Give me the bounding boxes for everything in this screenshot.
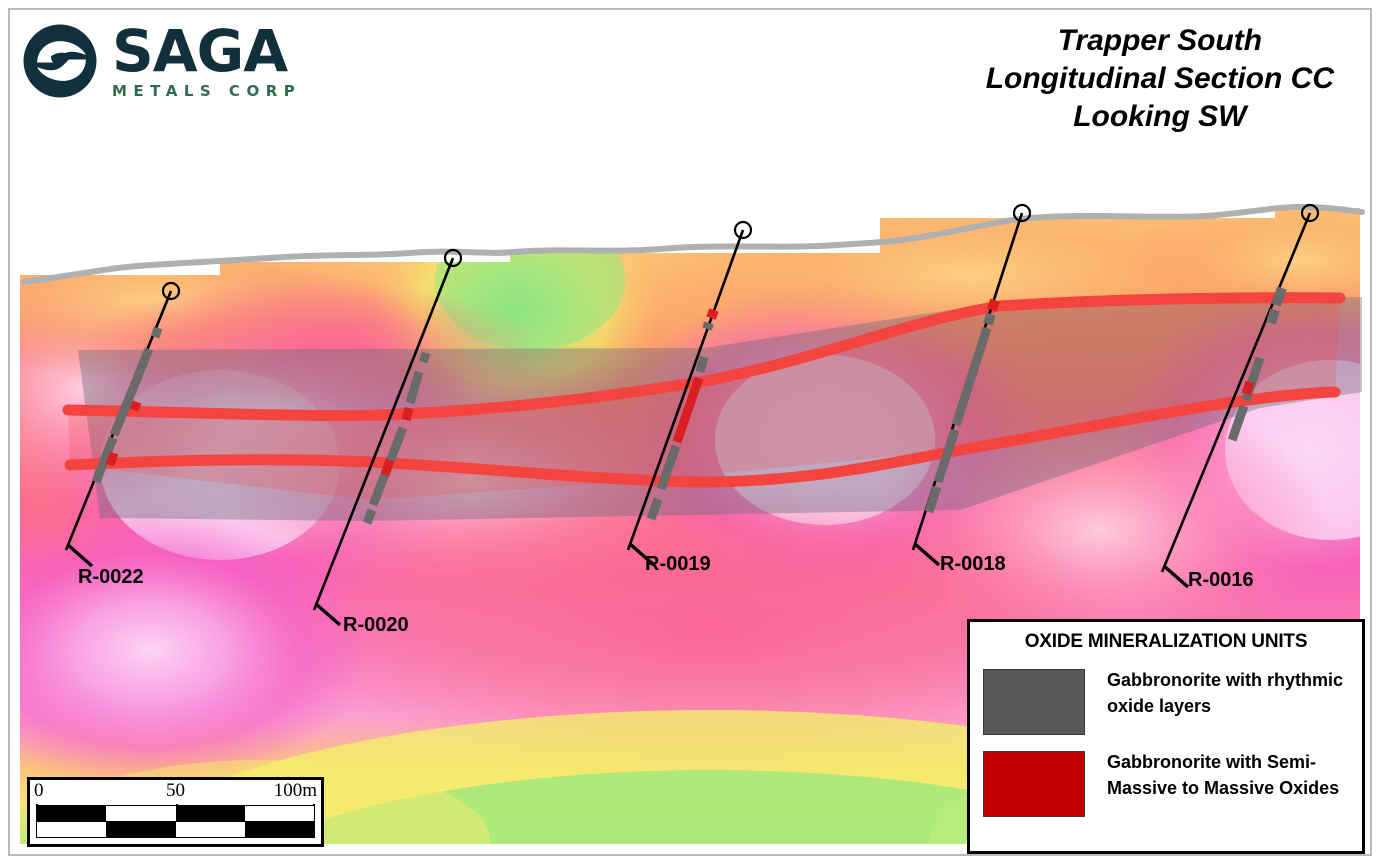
scale-label-end: 100m xyxy=(274,780,317,802)
drill-hole-label-R-0016: R-0016 xyxy=(1188,569,1254,592)
saga-logo: SAGA METALS CORP xyxy=(22,22,303,99)
title-line-3: Looking SW xyxy=(986,98,1334,136)
legend-item-rhythmic: Gabbronorite with rhythmic oxide layers xyxy=(970,667,1362,735)
saga-circle-swoosh-icon xyxy=(22,23,98,99)
drill-hole-label-R-0020: R-0020 xyxy=(343,614,409,637)
oxide-interval-massive xyxy=(992,300,995,310)
scale-label-start: 0 xyxy=(34,780,44,802)
oxide-interval-massive xyxy=(134,402,137,410)
oxide-interval-rhythmic xyxy=(1276,288,1282,305)
scale-bar-labels: 0 50 100m xyxy=(30,780,321,805)
brand-name: SAGA xyxy=(112,22,303,80)
oxide-interval-rhythmic xyxy=(988,314,991,324)
scale-label-middle: 50 xyxy=(166,780,185,802)
legend-label-rhythmic: Gabbronorite with rhythmic oxide layers xyxy=(1107,667,1352,719)
oxide-interval-rhythmic xyxy=(700,357,704,372)
figure-title: Trapper South Longitudinal Section CC Lo… xyxy=(986,22,1334,135)
scale-bar: 0 50 100m xyxy=(27,777,324,847)
drill-hole-label-R-0022: R-0022 xyxy=(78,566,144,589)
drill-hole-label-R-0019: R-0019 xyxy=(645,553,711,576)
legend-item-massive: Gabbronorite with Semi-Massive to Massiv… xyxy=(970,749,1362,817)
legend-panel: OXIDE MINERALIZATION UNITS Gabbronorite … xyxy=(967,619,1365,854)
brand-tagline: METALS CORP xyxy=(112,84,303,99)
oxide-interval-rhythmic xyxy=(367,510,372,523)
oxide-interval-rhythmic xyxy=(1271,310,1275,323)
oxide-interval-massive xyxy=(711,310,714,318)
scale-bar-row-bottom xyxy=(36,822,315,838)
drill-hole-label-R-0018: R-0018 xyxy=(940,553,1006,576)
oxide-interval-massive xyxy=(406,408,409,420)
legend-label-massive: Gabbronorite with Semi-Massive to Massiv… xyxy=(1107,749,1352,801)
scale-bar-row-top xyxy=(36,805,315,822)
oxide-interval-rhythmic xyxy=(707,323,709,329)
oxide-interval-massive xyxy=(385,460,390,475)
oxide-interval-rhythmic xyxy=(423,353,426,362)
legend-swatch-massive xyxy=(983,751,1085,817)
legend-swatch-rhythmic xyxy=(983,669,1085,735)
title-line-2: Longitudinal Section CC xyxy=(986,60,1334,98)
legend-title: OXIDE MINERALIZATION UNITS xyxy=(970,631,1362,653)
section-figure: R-0022 R-0020 R-0019 R-0018 R-0016 SAGA … xyxy=(0,0,1380,864)
oxide-interval-massive xyxy=(110,453,114,465)
oxide-interval-rhythmic xyxy=(155,328,158,337)
oxide-interval-massive xyxy=(1246,382,1250,394)
title-line-1: Trapper South xyxy=(986,22,1334,60)
figure-header: SAGA METALS CORP Trapper South Longitudi… xyxy=(0,0,1380,165)
